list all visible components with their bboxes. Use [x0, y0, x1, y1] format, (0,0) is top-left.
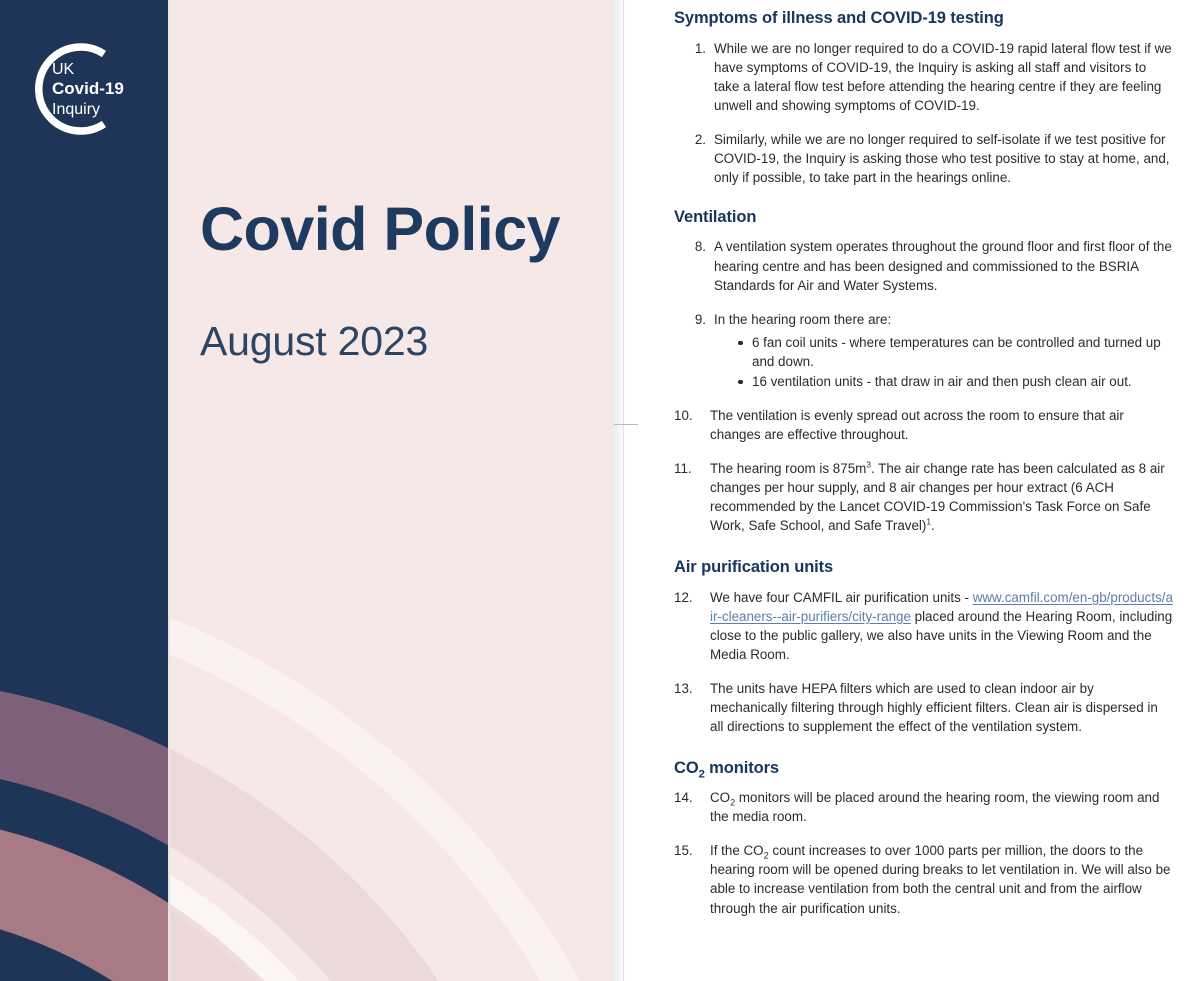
text-before-link: We have four CAMFIL air purification uni…: [710, 590, 973, 605]
logo-line-inquiry: Inquiry: [52, 101, 100, 118]
text-after: .: [931, 518, 935, 533]
section-heading-symptoms: Symptoms of illness and COVID-19 testing: [674, 8, 1174, 29]
list-item: 15. If the CO2 count increases to over 1…: [674, 841, 1174, 917]
list-item: 9. In the hearing room there are: 6 fan …: [674, 310, 1174, 391]
list-item-text: CO2 monitors will be placed around the h…: [710, 790, 1159, 824]
page-spine-line: [623, 0, 624, 981]
sublist-hearing-room-units: 6 fan coil units - where temperatures ca…: [714, 333, 1174, 391]
list-item: 8. A ventilation system operates through…: [674, 237, 1174, 294]
list-marker: 9.: [674, 310, 706, 329]
list-item-text: While we are no longer required to do a …: [714, 41, 1172, 113]
list-marker: 12.: [674, 588, 704, 607]
list-item: 1. While we are no longer required to do…: [674, 39, 1174, 115]
content-page: Symptoms of illness and COVID-19 testing…: [660, 0, 1200, 981]
cover-title: Covid Policy: [200, 198, 600, 261]
list-marker: 13.: [674, 679, 704, 698]
cover-page: UK Covid-19 Inquiry Covid Policy August …: [0, 0, 612, 981]
logo-line-uk: UK: [52, 61, 75, 78]
list-item-text: We have four CAMFIL air purification uni…: [710, 590, 1173, 662]
section-symptoms: Symptoms of illness and COVID-19 testing…: [674, 8, 1174, 187]
uk-covid19-inquiry-logo: UK Covid-19 Inquiry: [8, 28, 130, 150]
list-marker: 11.: [674, 459, 704, 478]
text-before-superscript: The hearing room is 875m: [710, 461, 866, 476]
list-item: 12. We have four CAMFIL air purification…: [674, 588, 1174, 664]
list-marker: 14.: [674, 788, 704, 807]
page-gutter: [612, 0, 660, 981]
text-before-subscript: CO: [710, 790, 730, 805]
list-item: 10. The ventilation is evenly spread out…: [674, 406, 1174, 444]
c-ring-logo-icon: UK Covid-19 Inquiry: [8, 28, 130, 150]
text-after-subscript: count increases to over 1000 parts per m…: [710, 843, 1171, 915]
list-item-text: Similarly, while we are no longer requir…: [714, 132, 1170, 185]
list-item-text: The ventilation is evenly spread out acr…: [710, 408, 1124, 442]
sublist-item: 16 ventilation units - that draw in air …: [736, 372, 1174, 391]
section-ventilation: Ventilation 8. A ventilation system oper…: [674, 207, 1174, 535]
section-air-purification: Air purification units 12. We have four …: [674, 557, 1174, 736]
section-heading-ventilation: Ventilation: [674, 207, 1174, 228]
text-before-subscript: If the CO: [710, 843, 764, 858]
section-heading-air-purification: Air purification units: [674, 557, 1174, 578]
logo-line-covid19: Covid-19: [52, 79, 124, 98]
list-symptoms: 1. While we are no longer required to do…: [674, 39, 1174, 187]
sublist-item: 6 fan coil units - where temperatures ca…: [736, 333, 1174, 371]
list-item-text: If the CO2 count increases to over 1000 …: [710, 843, 1171, 915]
heading-text-before: CO: [674, 759, 699, 777]
list-item-text: The units have HEPA filters which are us…: [710, 681, 1158, 734]
page-spine-tick: [614, 424, 638, 425]
section-heading-co2-monitors: CO2 monitors: [674, 758, 1174, 779]
list-marker: 8.: [674, 237, 706, 256]
cover-text-block: Covid Policy August 2023: [200, 198, 600, 365]
list-marker: 10.: [674, 406, 704, 425]
list-ventilation: 8. A ventilation system operates through…: [674, 237, 1174, 534]
list-item: 2. Similarly, while we are no longer req…: [674, 130, 1174, 187]
list-item-text: The hearing room is 875m3. The air chang…: [710, 461, 1165, 533]
list-co2-monitors: 14. CO2 monitors will be placed around t…: [674, 788, 1174, 917]
list-marker: 2.: [674, 130, 706, 149]
list-item-text: A ventilation system operates throughout…: [714, 239, 1172, 292]
document-viewer: UK Covid-19 Inquiry Covid Policy August …: [0, 0, 1200, 981]
list-marker: 15.: [674, 841, 704, 860]
list-item: 14. CO2 monitors will be placed around t…: [674, 788, 1174, 826]
list-item: 11. The hearing room is 875m3. The air c…: [674, 459, 1174, 535]
heading-text-after: monitors: [705, 759, 779, 777]
cover-subtitle: August 2023: [200, 319, 600, 364]
section-co2-monitors: CO2 monitors 14. CO2 monitors will be pl…: [674, 758, 1174, 918]
list-item-text: In the hearing room there are:: [714, 312, 891, 327]
list-air-purification: 12. We have four CAMFIL air purification…: [674, 588, 1174, 736]
text-after-subscript: monitors will be placed around the heari…: [710, 790, 1159, 824]
list-marker: 1.: [674, 39, 706, 58]
list-item: 13. The units have HEPA filters which ar…: [674, 679, 1174, 736]
